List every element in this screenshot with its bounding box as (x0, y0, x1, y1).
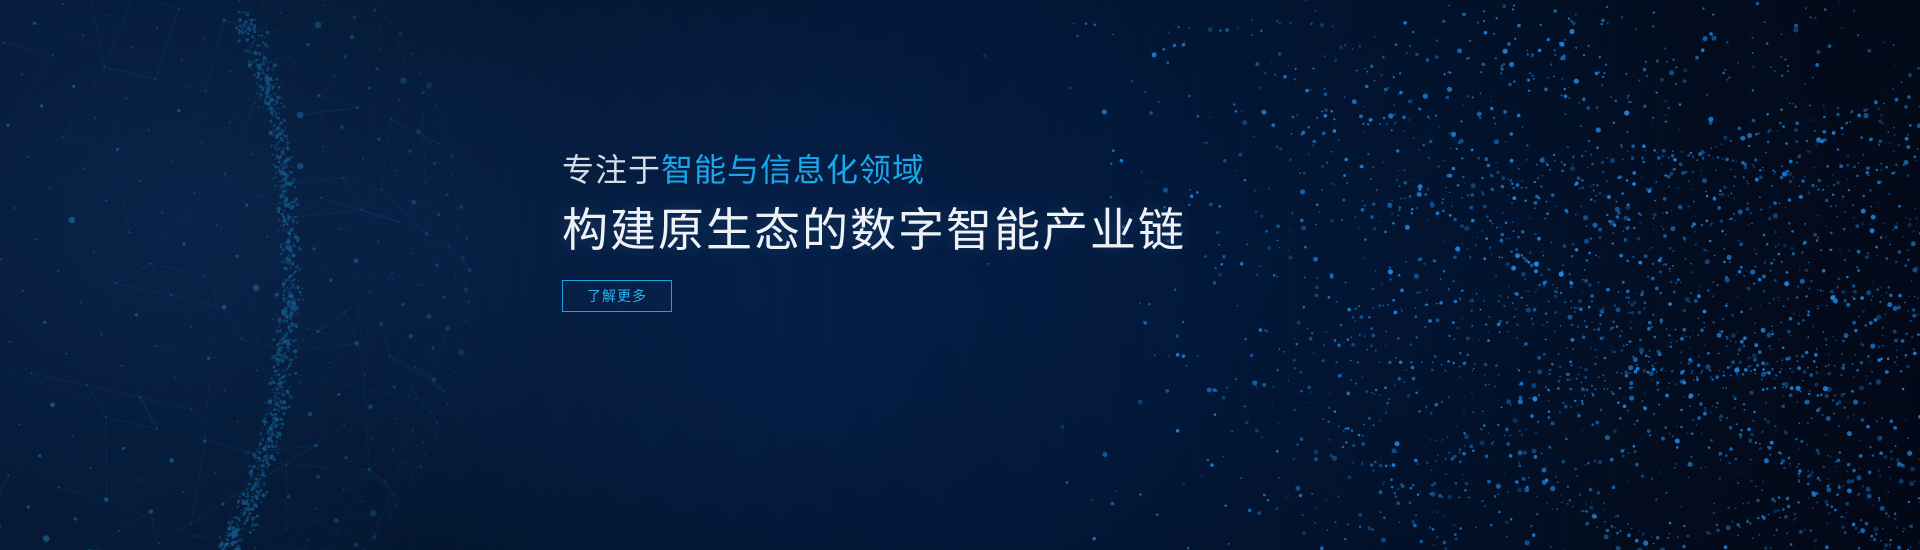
learn-more-button[interactable]: 了解更多 (562, 280, 672, 312)
headline-line-1-plain: 专注于 (562, 152, 661, 188)
headline-line-2: 构建原生态的数字智能产业链 (562, 202, 1322, 258)
headline-line-1: 专注于智能与信息化领域 (562, 150, 1322, 190)
hero-copy: 专注于智能与信息化领域 构建原生态的数字智能产业链 了解更多 (562, 150, 1322, 312)
headline-line-1-accent: 智能与信息化领域 (661, 152, 925, 188)
hero-banner: 专注于智能与信息化领域 构建原生态的数字智能产业链 了解更多 (0, 0, 1920, 550)
